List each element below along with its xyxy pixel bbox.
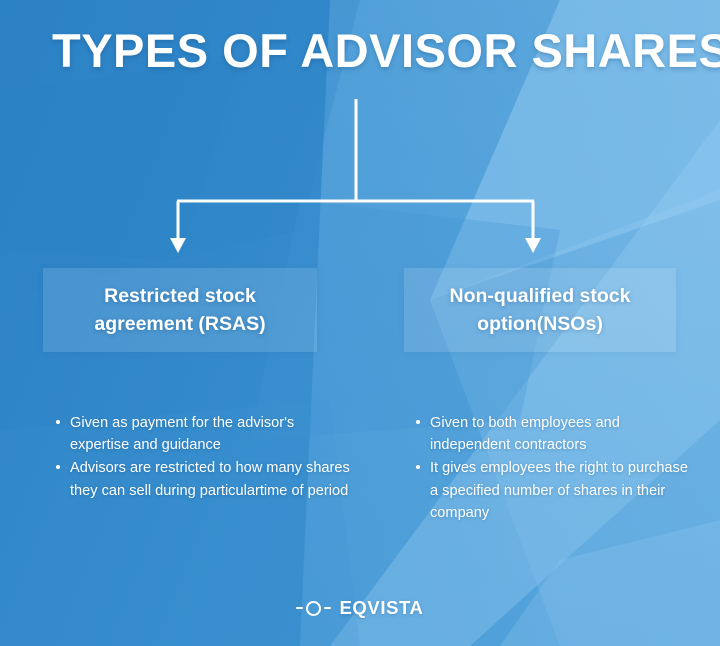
list-item: Given to both employees and independent …	[416, 412, 691, 456]
list-item: Advisors are restricted to how many shar…	[56, 457, 356, 501]
page-title: TYPES OF ADVISOR SHARES	[52, 23, 672, 78]
infographic-canvas: TYPES OF ADVISOR SHARES Restricted stock…	[0, 0, 720, 646]
list-item: Given as payment for the advisor's exper…	[56, 412, 356, 456]
list-item: It gives employees the right to purchase…	[416, 457, 691, 524]
arrow-head-left	[170, 238, 186, 253]
branch-heading-non-qualified-stock: Non-qualified stock option(NSOs)	[404, 268, 676, 352]
circle-dash-logo-icon	[296, 601, 331, 616]
brand-logo: EQVISTA	[0, 597, 720, 619]
logo-dash-left	[296, 607, 303, 609]
arrow-head-right	[525, 238, 541, 253]
logo-dash-right	[324, 607, 331, 609]
logo-ring-icon	[306, 601, 321, 616]
branch-bullets-restricted-stock: Given as payment for the advisor's exper…	[56, 412, 356, 503]
branch-bullets-non-qualified-stock: Given to both employees and independent …	[416, 412, 691, 525]
branch-heading-restricted-stock: Restricted stock agreement (RSAS)	[43, 268, 317, 352]
brand-name: EQVISTA	[339, 597, 423, 619]
